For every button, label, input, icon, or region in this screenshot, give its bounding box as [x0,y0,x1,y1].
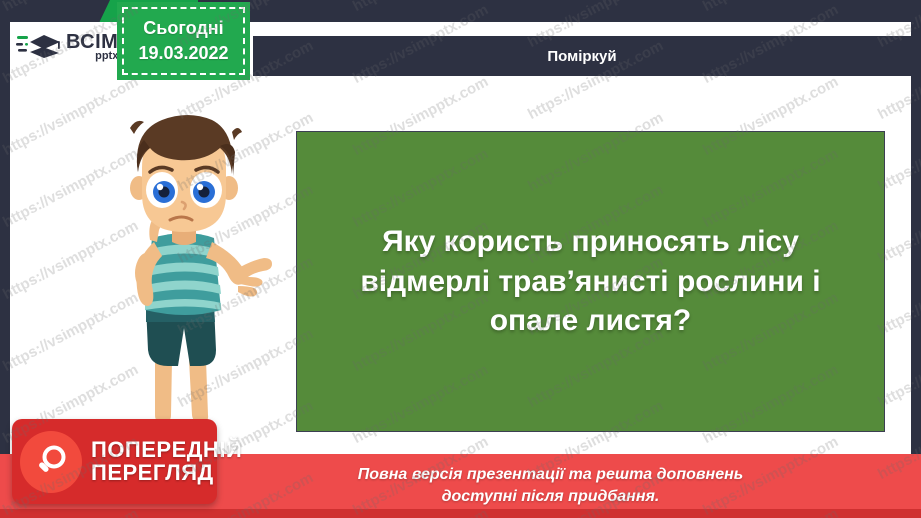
preview-badge-line-2: ПЕРЕГЛЯД [91,462,242,484]
graduation-cap-icon [16,30,64,64]
frame-right-border [911,0,921,518]
purchase-notice-line-1: Повна версія презентації та решта доповн… [358,464,744,486]
date-badge-value: 19.03.2022 [138,43,228,64]
question-panel: Яку користь приносять лісу відмерлі трав… [296,131,885,432]
preview-badge-line-1: ПОПЕРЕДНІЙ [91,439,242,461]
brand-name: ВСІМ [66,32,118,52]
thinking-boy-illustration [92,110,282,430]
date-badge-label: Сьогодні [143,18,223,39]
bottom-accent-strip [0,509,921,518]
magnifier-icon [20,431,82,493]
presentation-slide: ВСІМ pptx Сьогодні 19.03.2022 Поміркуй [0,0,921,518]
frame-left-border [0,0,10,518]
purchase-notice-line-2: доступні після придбання. [442,486,660,508]
slide-title: Поміркуй [547,48,616,65]
slide-title-bar: Поміркуй [253,36,911,76]
preview-badge-labels: ПОПЕРЕДНІЙ ПЕРЕГЛЯД [91,439,242,484]
brand-logo-text: ВСІМ pptx [66,32,118,62]
brand-logo: ВСІМ pptx [10,22,122,72]
preview-badge[interactable]: ПОПЕРЕДНІЙ ПЕРЕГЛЯД [12,419,217,504]
question-text: Яку користь приносять лісу відмерлі трав… [321,222,860,341]
today-date-badge: Сьогодні 19.03.2022 [117,2,250,80]
